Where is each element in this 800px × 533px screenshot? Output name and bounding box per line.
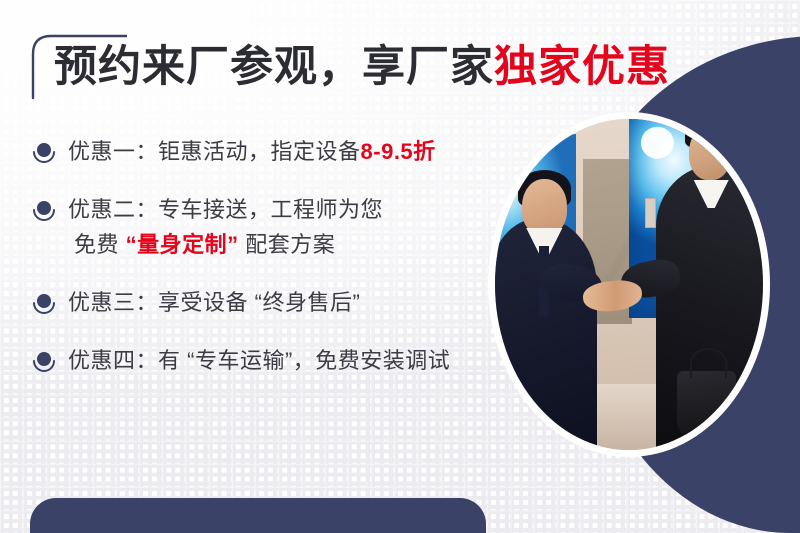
list-item: 优惠一：钜惠活动，指定设备8-9.5折 (30, 134, 500, 170)
benefit-1-accent: 8-9.5折 (361, 139, 436, 164)
circle-crescent-bullet-icon (30, 138, 58, 168)
list-item-text: 优惠三：享受设备 “终身售后” (68, 285, 360, 321)
handbag (677, 371, 736, 437)
circle-crescent-bullet-icon (30, 347, 58, 377)
benefit-2-label: 优惠二：专车接送，工程师为您 (68, 197, 383, 222)
wall-switch (645, 198, 656, 228)
list-item: 优惠二：专车接送，工程师为您 免费 “量身定制” 配套方案 (30, 192, 500, 263)
benefit-2-accent: “量身定制” (126, 232, 239, 257)
list-item-text: 优惠四：有 “专车运输”，免费安装调试 (68, 343, 450, 379)
benefit-2-plain-a: 免费 (74, 232, 126, 257)
benefits-list: 优惠一：钜惠活动，指定设备8-9.5折 优惠二：专车接送，工程师为您 免费 “量… (30, 134, 500, 378)
list-item-text: 优惠二：专车接送，工程师为您 免费 “量身定制” 配套方案 (68, 192, 383, 263)
list-item: 优惠三：享受设备 “终身售后” (30, 285, 500, 321)
benefit-3-label: 优惠三：享受设备 “终身售后” (68, 290, 360, 315)
business-handshake-photo (488, 112, 770, 457)
benefit-1-label: 优惠一：钜惠活动，指定设备 (68, 139, 361, 164)
title-accent-text: 独家优惠 (494, 43, 670, 91)
list-item: 优惠四：有 “专车运输”，免费安装调试 (30, 343, 500, 379)
circle-crescent-bullet-icon (30, 196, 58, 226)
benefit-2-line-1: 优惠二：专车接送，工程师为您 (68, 192, 383, 228)
head (689, 126, 731, 180)
photo-scene (495, 119, 763, 450)
person-left (495, 218, 597, 450)
page-title: 预约来厂参观，享厂家独家优惠 (54, 44, 670, 91)
navy-bottom-bar (30, 498, 486, 533)
title-plain-text: 预约来厂参观，享厂家 (54, 43, 494, 91)
benefit-2-line-2: 免费 “量身定制” 配套方案 (68, 227, 383, 263)
shirt-collar (694, 180, 729, 208)
benefit-4-label: 优惠四：有 “专车运输”，免费安装调试 (68, 348, 450, 373)
list-item-text: 优惠一：钜惠活动，指定设备8-9.5折 (68, 134, 436, 170)
benefit-2-plain-b: 配套方案 (239, 232, 336, 257)
circle-crescent-bullet-icon (30, 289, 58, 319)
promo-banner: 预约来厂参观，享厂家独家优惠 优惠一：钜惠活动，指定设备8-9.5折 优惠二：专… (0, 0, 800, 533)
head (522, 179, 567, 235)
